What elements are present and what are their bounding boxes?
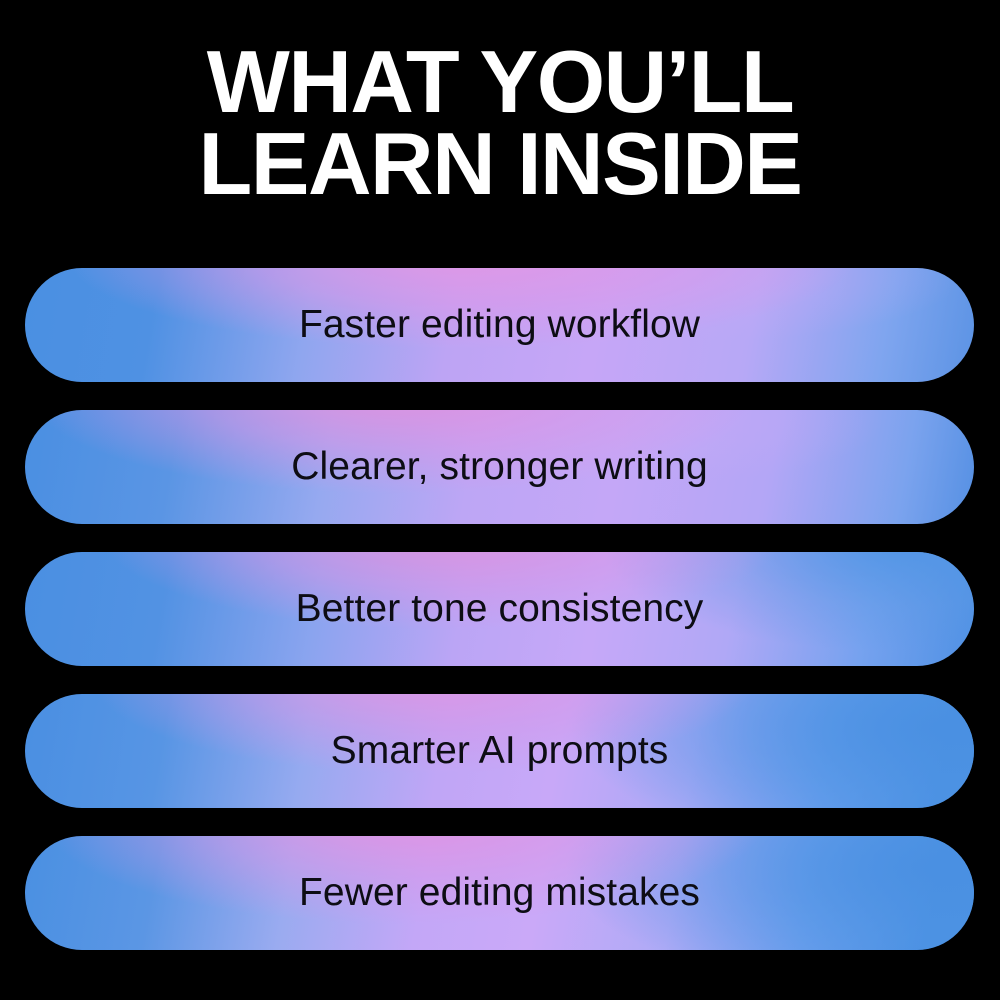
page-title-line-2: LEARN INSIDE (60, 122, 940, 206)
benefit-pill-list: Faster editing workflow Clearer, stronge… (25, 268, 974, 950)
page-title: WHAT YOU’LL LEARN INSIDE (0, 40, 1000, 207)
benefit-pill-4[interactable]: Smarter AI prompts (25, 694, 974, 808)
benefit-pill-label: Fewer editing mistakes (299, 871, 700, 915)
poster-canvas: WHAT YOU’LL LEARN INSIDE Faster editing … (0, 0, 1000, 1000)
page-title-line-1: WHAT YOU’LL (60, 40, 940, 124)
benefit-pill-label: Clearer, stronger writing (291, 445, 708, 489)
benefit-pill-5[interactable]: Fewer editing mistakes (25, 836, 974, 950)
benefit-pill-label: Faster editing workflow (299, 303, 700, 347)
benefit-pill-2[interactable]: Clearer, stronger writing (25, 410, 974, 524)
benefit-pill-1[interactable]: Faster editing workflow (25, 268, 974, 382)
benefit-pill-label: Better tone consistency (296, 587, 704, 631)
benefit-pill-3[interactable]: Better tone consistency (25, 552, 974, 666)
benefit-pill-label: Smarter AI prompts (331, 729, 669, 773)
